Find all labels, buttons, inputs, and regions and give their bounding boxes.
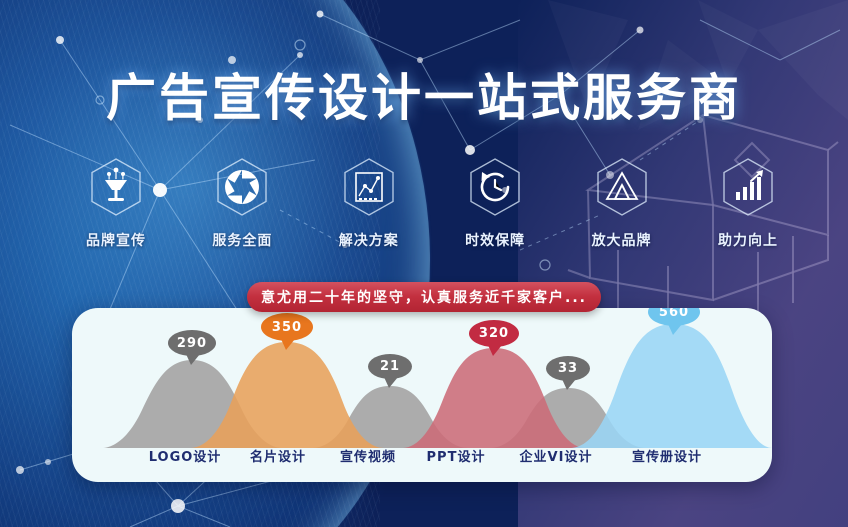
aperture-icon (182, 156, 302, 218)
feature-label: 品牌宣传 (56, 230, 176, 250)
mountain-chart: 290 350 21 320 33 (72, 308, 772, 482)
trophy-cup-icon (56, 156, 176, 218)
tagline-ribbon: 意尤用二十年的坚守，认真服务近千家客户... (247, 282, 601, 312)
feature-item-full-service[interactable]: 服务全面 (182, 156, 302, 250)
feature-label: 服务全面 (182, 230, 302, 250)
feature-item-brand-promotion[interactable]: 品牌宣传 (56, 156, 176, 250)
value-bubble-2: 21 (368, 354, 412, 379)
triangle-delta-icon (562, 156, 682, 218)
category-label-1: 名片设计 (250, 446, 306, 465)
value-bubble-3: 320 (469, 320, 519, 347)
category-label-4: 企业VI设计 (520, 446, 593, 465)
feature-item-solutions[interactable]: 解决方案 (309, 156, 429, 250)
category-label-3: PPT设计 (427, 446, 486, 465)
feature-label: 助力向上 (688, 230, 808, 250)
chart-category-labels: LOGO设计 名片设计 宣传视频 PPT设计 企业VI设计 宣传册设计 (72, 446, 772, 468)
feature-item-timeliness[interactable]: 时效保障 (435, 156, 555, 250)
feature-label: 放大品牌 (562, 230, 682, 250)
tagline-text: 意尤用二十年的坚守，认真服务近千家客户... (261, 287, 587, 307)
bar-chart-up-icon (688, 156, 808, 218)
category-label-5: 宣传册设计 (632, 446, 702, 465)
category-label-0: LOGO设计 (149, 446, 222, 465)
value-bubble-1: 350 (261, 313, 313, 341)
feature-row: 品牌宣传 服务全面 (56, 156, 808, 250)
feature-label: 时效保障 (435, 230, 555, 250)
chart-panel: 290 350 21 320 33 (72, 308, 772, 482)
feature-label: 解决方案 (309, 230, 429, 250)
feature-item-boost-upward[interactable]: 助力向上 (688, 156, 808, 250)
page-title: 广告宣传设计一站式服务商 (0, 58, 848, 130)
value-bubble-4: 33 (546, 356, 590, 381)
feature-item-amplify-brand[interactable]: 放大品牌 (562, 156, 682, 250)
value-bubble-0: 290 (168, 330, 216, 356)
chart-value-bubbles: 290 350 21 320 33 (72, 308, 772, 448)
category-label-2: 宣传视频 (340, 446, 396, 465)
line-chart-icon (309, 156, 429, 218)
banner-stage: 广告宣传设计一站式服务商 (0, 0, 848, 527)
value-bubble-5: 560 (648, 308, 700, 326)
clock-rotate-icon (435, 156, 555, 218)
